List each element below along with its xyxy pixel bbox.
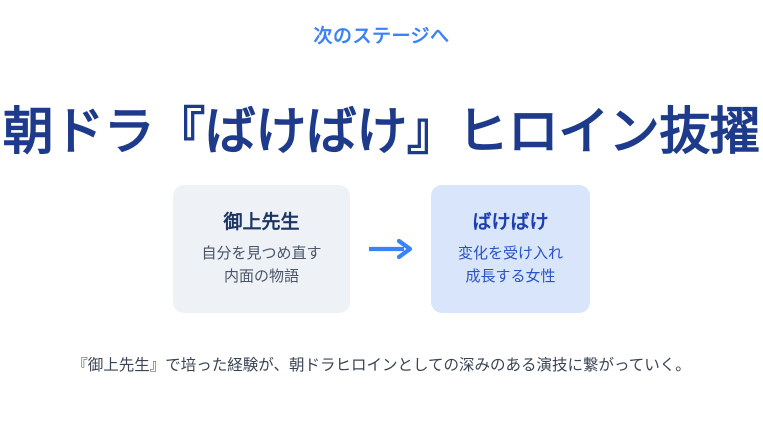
eyebrow-text: 次のステージへ [0, 25, 763, 48]
caption-text: 『御上先生』で培った経験が、朝ドラヒロインとしての深みのある演技に繋がっていく。 [50, 350, 713, 381]
card-before-body: 自分を見つめ直す 内面の物語 [201, 242, 321, 287]
slide-root: 次のステージへ 朝ドラ『ばけばけ』ヒロイン抜擢 御上先生 自分を見つめ直す 内面… [0, 0, 763, 438]
transition-diagram: 御上先生 自分を見つめ直す 内面の物語 ばけばけ 変化を受け入れ 成長する女性 [0, 185, 763, 313]
card-after-body-line2: 成長する女性 [458, 265, 563, 288]
card-before-body-line2: 内面の物語 [201, 265, 321, 288]
card-before-body-line1: 自分を見つめ直す [201, 242, 321, 265]
card-after-body: 変化を受け入れ 成長する女性 [458, 242, 563, 287]
card-before: 御上先生 自分を見つめ直す 内面の物語 [173, 185, 350, 313]
page-title: 朝ドラ『ばけばけ』ヒロイン抜擢 [0, 104, 763, 163]
card-after-body-line1: 変化を受け入れ [458, 242, 563, 265]
arrow-right-icon [350, 237, 431, 261]
card-before-title: 御上先生 [223, 211, 299, 234]
card-after-title: ばけばけ [472, 211, 548, 234]
card-after: ばけばけ 変化を受け入れ 成長する女性 [431, 185, 590, 313]
